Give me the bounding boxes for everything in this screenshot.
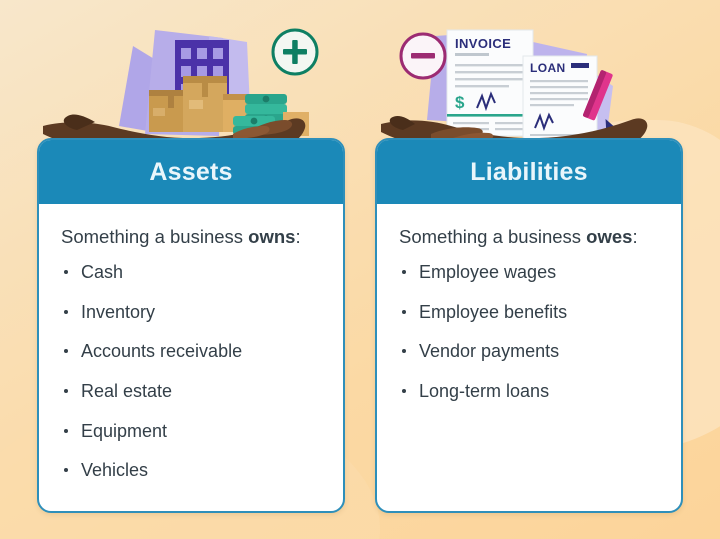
list-item-label: Real estate — [81, 381, 172, 401]
liabilities-intro-prefix: Something a business — [399, 226, 586, 247]
assets-intro-text: Something a business owns: — [55, 226, 327, 248]
liabilities-intro-suffix: : — [632, 226, 637, 247]
minus-circle-icon — [401, 34, 445, 78]
svg-text:LOAN: LOAN — [530, 61, 566, 75]
list-item: Inventory — [55, 302, 327, 324]
liabilities-card-header: Liabilities — [377, 140, 681, 204]
list-item-label: Equipment — [81, 421, 167, 441]
svg-text:$: $ — [455, 93, 465, 112]
list-item-label: Employee wages — [419, 262, 556, 282]
bullet-dot-icon — [402, 310, 406, 314]
assets-bullet-list: Cash Inventory Accounts receivable Real … — [55, 262, 327, 482]
comparison-columns: Assets Something a business owns: Cash I… — [0, 0, 720, 539]
list-item-label: Inventory — [81, 302, 155, 322]
liabilities-card-body: Something a business owes: Employee wage… — [377, 204, 681, 431]
svg-text:INVOICE: INVOICE — [455, 36, 511, 51]
assets-intro-emphasis: owns — [248, 226, 295, 247]
list-item: Vehicles — [55, 460, 327, 482]
list-item-label: Long-term loans — [419, 381, 549, 401]
liabilities-intro-emphasis: owes — [586, 226, 632, 247]
list-item: Vendor payments — [393, 341, 665, 363]
invoice-document-icon: INVOICE $ — [447, 30, 533, 136]
assets-intro-suffix: : — [295, 226, 300, 247]
liabilities-card: Liabilities Something a business owes: E… — [375, 138, 683, 513]
list-item: Real estate — [55, 381, 327, 403]
list-item: Employee wages — [393, 262, 665, 284]
liabilities-column: INVOICE $ — [375, 0, 683, 539]
bullet-dot-icon — [64, 270, 68, 274]
bullet-dot-icon — [402, 389, 406, 393]
list-item-label: Accounts receivable — [81, 341, 242, 361]
assets-card: Assets Something a business owns: Cash I… — [37, 138, 345, 513]
bullet-dot-icon — [402, 349, 406, 353]
assets-intro-prefix: Something a business — [61, 226, 248, 247]
liabilities-intro-text: Something a business owes: — [393, 226, 665, 248]
liabilities-bullet-list: Employee wages Employee benefits Vendor … — [393, 262, 665, 402]
list-item-label: Vehicles — [81, 460, 148, 480]
assets-card-header: Assets — [39, 140, 343, 204]
list-item: Employee benefits — [393, 302, 665, 324]
bullet-dot-icon — [64, 429, 68, 433]
list-item: Equipment — [55, 421, 327, 443]
liabilities-card-title: Liabilities — [470, 160, 588, 185]
list-item: Long-term loans — [393, 381, 665, 403]
list-item-label: Cash — [81, 262, 123, 282]
assets-column: Assets Something a business owns: Cash I… — [37, 0, 345, 539]
list-item: Accounts receivable — [55, 341, 327, 363]
list-item: Cash — [55, 262, 327, 284]
bullet-dot-icon — [64, 389, 68, 393]
bullet-dot-icon — [402, 270, 406, 274]
plus-circle-icon — [273, 30, 317, 74]
assets-card-body: Something a business owns: Cash Inventor… — [39, 204, 343, 510]
loan-document-icon: LOAN — [523, 56, 597, 140]
bullet-dot-icon — [64, 349, 68, 353]
list-item-label: Vendor payments — [419, 341, 559, 361]
assets-card-title: Assets — [149, 160, 232, 185]
list-item-label: Employee benefits — [419, 302, 567, 322]
bullet-dot-icon — [64, 310, 68, 314]
bullet-dot-icon — [64, 468, 68, 472]
